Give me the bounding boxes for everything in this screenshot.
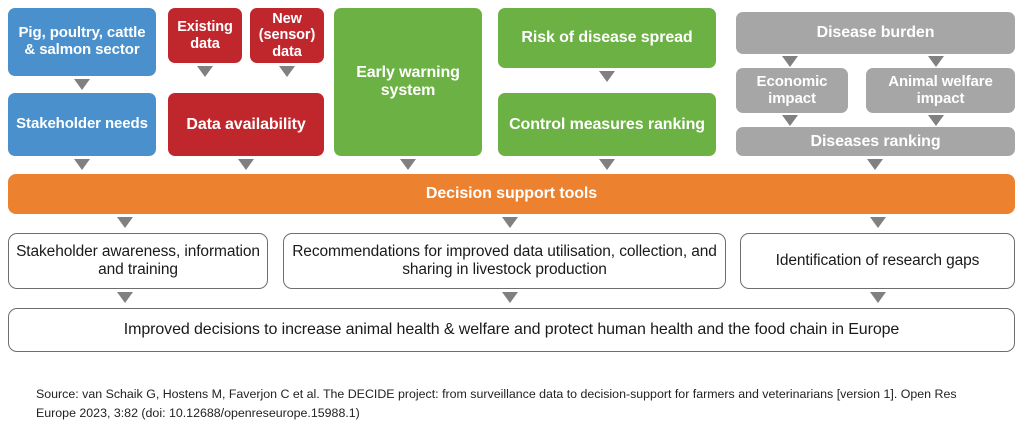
- arrow-economic-to-ranking: [782, 115, 798, 126]
- box-new-sensor-data: New (sensor) data: [250, 8, 324, 63]
- arrow-burden-to-welfare: [928, 56, 944, 67]
- arrow-availability-to-hub: [238, 159, 254, 170]
- arrow-early-warning-to-hub: [400, 159, 416, 170]
- box-existing-data: Existing data: [168, 8, 242, 63]
- box-data-availability: Data availability: [168, 93, 324, 156]
- box-animal-welfare-impact: Animal welfare impact: [866, 68, 1015, 113]
- box-risk-of-disease-spread: Risk of disease spread: [498, 8, 716, 68]
- box-final-outcome: Improved decisions to increase animal he…: [8, 308, 1015, 352]
- box-control-measures-ranking: Control measures ranking: [498, 93, 716, 156]
- box-decision-support-tools: Decision support tools: [8, 174, 1015, 214]
- arrow-stakeholder-to-hub: [74, 159, 90, 170]
- arrow-outcome-2-to-final: [502, 292, 518, 303]
- arrow-outcome-1-to-final: [117, 292, 133, 303]
- arrow-existing-to-availability: [197, 66, 213, 77]
- decide-framework-diagram: Pig, poultry, cattle & salmon sector Sta…: [0, 0, 1023, 446]
- arrow-burden-to-economic: [782, 56, 798, 67]
- arrow-risk-to-control: [599, 71, 615, 82]
- box-early-warning-system: Early warning system: [334, 8, 482, 156]
- box-diseases-ranking: Diseases ranking: [736, 127, 1015, 156]
- arrow-hub-to-outcome-1: [117, 217, 133, 228]
- arrow-sector-to-stakeholder: [74, 79, 90, 90]
- box-outcome-stakeholder-awareness: Stakeholder awareness, information and t…: [8, 233, 268, 289]
- arrow-new-to-availability: [279, 66, 295, 77]
- box-sector: Pig, poultry, cattle & salmon sector: [8, 8, 156, 76]
- arrow-hub-to-outcome-3: [870, 217, 886, 228]
- arrow-welfare-to-ranking: [928, 115, 944, 126]
- box-disease-burden: Disease burden: [736, 12, 1015, 54]
- arrow-control-to-hub: [599, 159, 615, 170]
- box-economic-impact: Economic impact: [736, 68, 848, 113]
- box-outcome-recommendations: Recommendations for improved data utilis…: [283, 233, 726, 289]
- box-stakeholder-needs: Stakeholder needs: [8, 93, 156, 156]
- source-citation: Source: van Schaik G, Hostens M, Faverjo…: [36, 385, 996, 423]
- arrow-ranking-to-hub: [867, 159, 883, 170]
- arrow-outcome-3-to-final: [870, 292, 886, 303]
- box-outcome-research-gaps: Identification of research gaps: [740, 233, 1015, 289]
- arrow-hub-to-outcome-2: [502, 217, 518, 228]
